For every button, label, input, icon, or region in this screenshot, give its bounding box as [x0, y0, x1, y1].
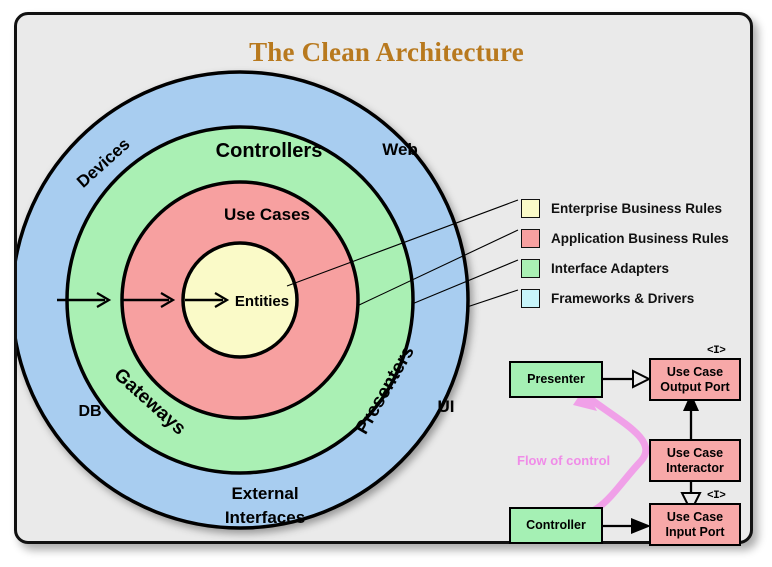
legend-swatch-interface-adapters: [521, 259, 540, 278]
legend-swatch-application: [521, 229, 540, 248]
uml-box-input-port-line2: Input Port: [665, 525, 724, 539]
interface-marker-output-port: <I>: [707, 345, 725, 357]
arrowhead-solid-input-port: [631, 518, 651, 534]
legend-label-frameworks: Frameworks & Drivers: [551, 291, 694, 306]
legend-label-application: Application Business Rules: [551, 231, 729, 246]
uml-box-interactor-line2: Interactor: [666, 461, 724, 475]
flow-of-control-label: Flow of control: [517, 453, 610, 468]
clean-architecture-diagram: The Clean Architecture: [0, 0, 772, 567]
legend-item-frameworks-and-drivers: Frameworks & Drivers: [521, 283, 771, 313]
interface-marker-input-port: <I>: [707, 490, 725, 502]
diagram-frame: The Clean Architecture: [14, 12, 753, 544]
legend: Enterprise Business Rules Application Bu…: [521, 193, 771, 313]
legend-item-interface-adapters: Interface Adapters: [521, 253, 771, 283]
uml-box-presenter[interactable]: Presenter: [509, 361, 603, 398]
uml-box-output-port-line1: Use Case: [667, 365, 723, 379]
uml-box-controller-label: Controller: [526, 518, 586, 533]
arrowhead-hollow-output-port: [633, 371, 649, 387]
uml-box-output-port-line2: Output Port: [660, 380, 729, 394]
uml-box-use-case-interactor[interactable]: Use Case Interactor: [649, 439, 741, 482]
uml-box-input-port-line1: Use Case: [667, 510, 723, 524]
legend-label-interface-adapters: Interface Adapters: [551, 261, 669, 276]
uml-box-presenter-label: Presenter: [527, 372, 585, 387]
uml-box-controller[interactable]: Controller: [509, 507, 603, 544]
uml-box-use-case-output-port[interactable]: Use Case Output Port: [649, 358, 741, 401]
legend-swatch-enterprise: [521, 199, 540, 218]
legend-swatch-frameworks: [521, 289, 540, 308]
legend-item-enterprise-business-rules: Enterprise Business Rules: [521, 193, 771, 223]
uml-box-interactor-line1: Use Case: [667, 446, 723, 460]
legend-label-enterprise: Enterprise Business Rules: [551, 201, 722, 216]
legend-item-application-business-rules: Application Business Rules: [521, 223, 771, 253]
uml-box-use-case-input-port[interactable]: Use Case Input Port: [649, 503, 741, 546]
